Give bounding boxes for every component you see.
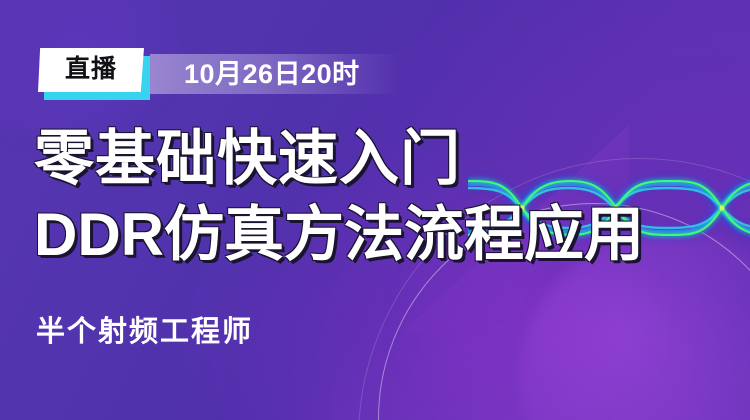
live-stream-promo-banner: 10月26日20时 直播 零基础快速入门 DDR仿真方法流程应用 半个射频工程师 [0, 0, 750, 420]
title-line-1: 零基础快速入门 [34, 128, 734, 190]
live-badge: 直播 [38, 48, 144, 92]
date-band: 10月26日20时 [150, 54, 400, 94]
broadcast-date-text: 10月26日20时 [184, 61, 360, 88]
title-block: 零基础快速入门 DDR仿真方法流程应用 [34, 128, 734, 267]
subtitle-presenter: 半个射频工程师 [36, 318, 253, 347]
live-badge-label: 直播 [65, 57, 117, 82]
title-line-2: DDR仿真方法流程应用 [34, 204, 734, 266]
